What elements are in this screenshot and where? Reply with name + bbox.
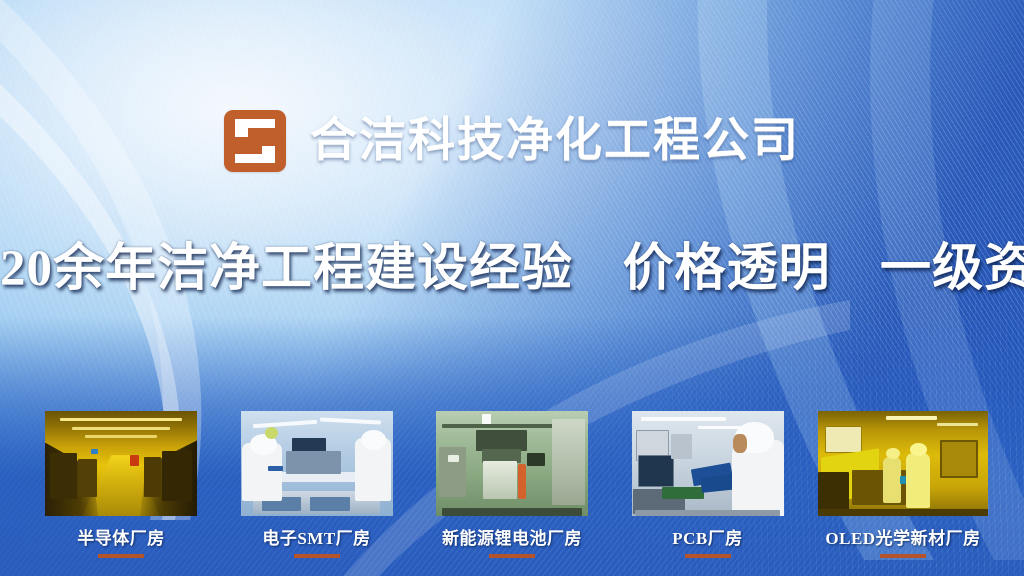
- scene-pcb-inspection: [632, 411, 784, 516]
- smt-ceiling-light-1: [253, 419, 317, 427]
- oled-cabinet: [940, 440, 977, 478]
- fab-ceiling-light-3: [85, 435, 158, 438]
- thumbnail-caption: PCB厂房: [672, 524, 743, 549]
- oled-worker-head: [910, 443, 927, 457]
- thumbnail-image-oled-cleanroom: [818, 411, 988, 516]
- scene-battery-plant: [436, 411, 588, 516]
- oled-ceiling-light-2: [937, 423, 978, 426]
- battery-orange-hose: [518, 464, 526, 500]
- thumbnail-item-semiconductor[interactable]: 半导体厂房: [30, 411, 212, 558]
- oled-ceiling-light-1: [886, 416, 937, 420]
- fab-tool-c: [162, 451, 192, 501]
- pcb-worker-face: [733, 434, 747, 453]
- thumbnail-caption: 半导体厂房: [77, 524, 165, 549]
- headline-part-1: 20余年洁净工程建设经验: [0, 241, 573, 297]
- smt-tray-2: [310, 497, 350, 511]
- battery-roller: [483, 461, 516, 499]
- headline-part-2: 价格透明: [623, 241, 831, 297]
- fab-tool-b: [78, 459, 96, 497]
- logo-notch-bottom: [235, 154, 262, 163]
- thumbnail-item-smt[interactable]: 电子SMT厂房: [226, 411, 408, 558]
- smt-yellow-cable: [265, 427, 279, 440]
- logo-crossbar: [235, 137, 275, 146]
- smt-panel: [286, 451, 341, 474]
- oled-worker-body: [906, 453, 930, 508]
- fab-tool-d: [144, 457, 161, 497]
- smt-worker-right-head: [361, 430, 387, 450]
- smt-ceiling-light-2: [319, 418, 380, 425]
- thumbnail-image-smt-line: [241, 411, 393, 516]
- pcb-monitor-2: [638, 455, 674, 487]
- thumbnail-caption: 新能源锂电池厂房: [442, 524, 582, 549]
- thumbnail-underline: [685, 554, 731, 558]
- brand-header: 合洁科技净化工程公司: [0, 110, 1024, 172]
- oled-worker-2-head: [886, 448, 900, 460]
- pcb-bench-edge: [635, 510, 781, 516]
- headline-part-3: 一级资质: [880, 241, 1024, 297]
- thumbnail-underline: [294, 554, 340, 558]
- thumbnail-image-semiconductor-fab: [45, 411, 197, 516]
- thumbnail-item-battery[interactable]: 新能源锂电池厂房: [421, 411, 603, 558]
- thumbnail-strip: 半导体厂房: [30, 411, 994, 558]
- company-name: 合洁科技净化工程公司: [310, 118, 800, 165]
- fab-indicator-blue: [91, 449, 99, 454]
- smt-glove: [268, 466, 283, 471]
- pcb-monitor-3: [671, 434, 692, 459]
- scene-smt-line: [241, 411, 393, 516]
- thumbnail-caption: OLED光学新材厂房: [825, 524, 980, 549]
- battery-cabinet-right: [552, 419, 585, 505]
- oled-floor: [818, 509, 988, 516]
- thumbnail-item-oled[interactable]: OLED光学新材厂房: [812, 411, 994, 558]
- battery-control-panel: [527, 453, 545, 466]
- thumbnail-image-pcb-inspection: [632, 411, 784, 516]
- oled-whiteboard: [825, 426, 862, 453]
- thumbnail-underline: [880, 554, 926, 558]
- battery-label: [448, 455, 459, 462]
- thumbnail-underline: [98, 554, 144, 558]
- fab-ceiling-light-1: [60, 418, 182, 421]
- logo-notch-top: [248, 119, 275, 128]
- logo-h-mark-icon: [224, 110, 286, 172]
- promo-banner: 合洁科技净化工程公司 20余年洁净工程建设经验 价格透明 一级资质: [0, 0, 1024, 576]
- thumbnail-underline: [489, 554, 535, 558]
- fab-ceiling-light-2: [72, 427, 169, 430]
- headline: 20余年洁净工程建设经验 价格透明 一级资质: [0, 243, 1024, 297]
- oled-machine-base: [818, 472, 849, 510]
- thumbnail-item-pcb[interactable]: PCB厂房: [617, 411, 799, 558]
- fab-tool-a: [50, 453, 77, 499]
- fab-indicator-red: [130, 455, 139, 466]
- battery-floor-shadow: [442, 508, 582, 516]
- oled-worker-2-body: [883, 457, 902, 503]
- oled-tool-teal: [900, 476, 907, 484]
- thumbnail-image-battery-plant: [436, 411, 588, 516]
- battery-press-top: [476, 430, 528, 451]
- pcb-board-green: [662, 487, 705, 500]
- pcb-ceiling-light-1: [641, 417, 726, 421]
- scene-oled-cleanroom: [818, 411, 988, 516]
- scene-semiconductor-fab: [45, 411, 197, 516]
- thumbnail-caption: 电子SMT厂房: [262, 524, 370, 549]
